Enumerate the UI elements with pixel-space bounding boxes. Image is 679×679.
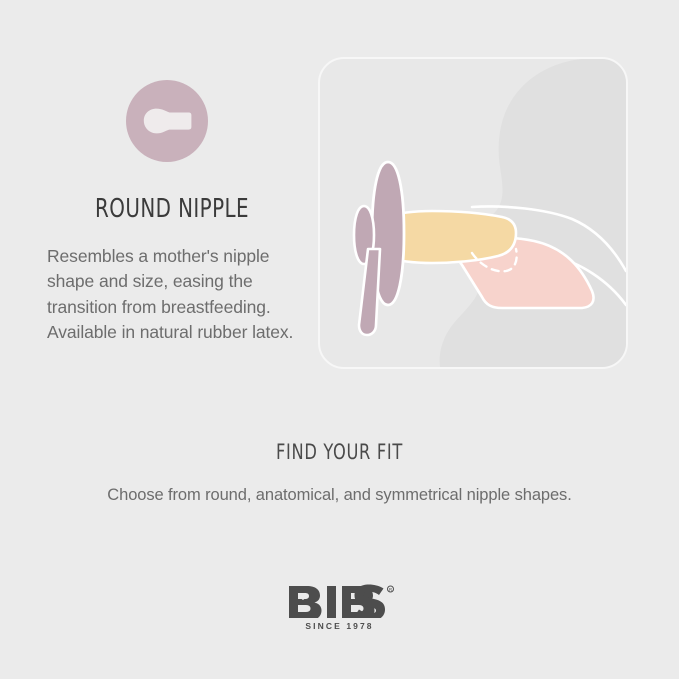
product-feature-infographic: ROUND NIPPLE Resembles a mother's nipple… (0, 0, 679, 679)
bibs-wordmark: R (286, 584, 394, 618)
brand-logo: R SINCE 1978 (0, 584, 679, 634)
feature-title: ROUND NIPPLE (66, 195, 279, 224)
round-nipple-shape-icon (143, 108, 192, 134)
registered-trademark-icon: R (387, 586, 393, 592)
brand-tagline: SINCE 1978 (286, 621, 394, 631)
find-your-fit-heading: FIND YOUR FIT (48, 440, 632, 464)
baby-head-profile-with-pacifier-illustration (320, 59, 626, 367)
find-your-fit-section: FIND YOUR FIT Choose from round, anatomi… (0, 440, 679, 505)
feature-description: Resembles a mother's nipple shape and si… (47, 244, 297, 346)
illustration-panel (318, 57, 628, 369)
round-nipple-shape-badge (126, 80, 208, 162)
feature-column: ROUND NIPPLE Resembles a mother's nipple… (47, 80, 297, 346)
top-section: ROUND NIPPLE Resembles a mother's nipple… (0, 0, 679, 400)
find-your-fit-subheading: Choose from round, anatomical, and symme… (0, 486, 679, 505)
